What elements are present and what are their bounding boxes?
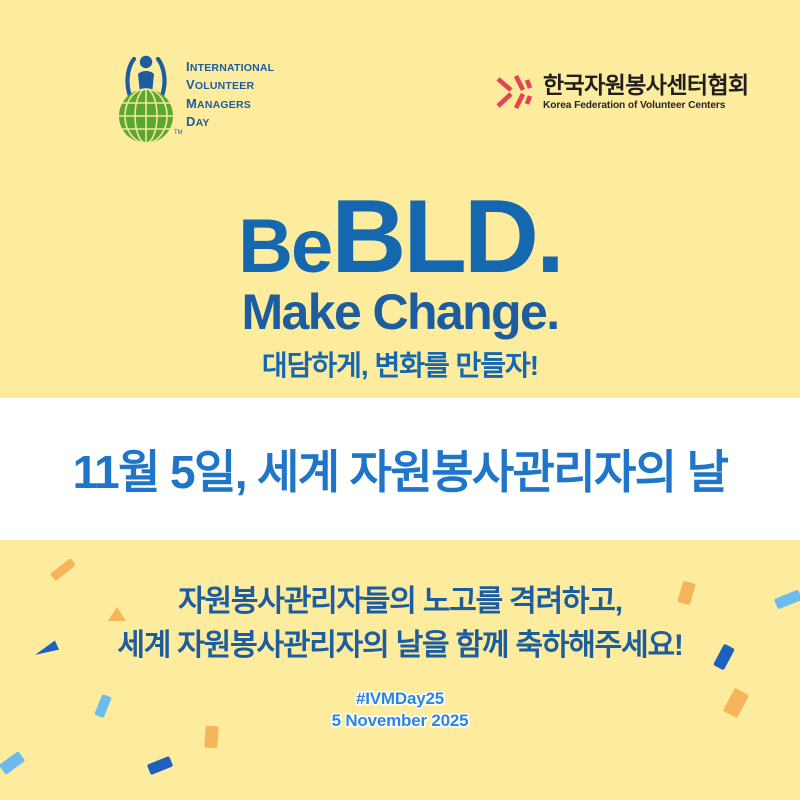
korean-tagline: 대담하게, 변화를 만들자! <box>0 344 800 384</box>
bottom-message-line-2: 세계 자원봉사관리자의 날을 함께 축하해주세요! <box>0 624 800 668</box>
headline-subhead: Make Change. <box>0 283 800 341</box>
bottom-message-line-1: 자원봉사관리자들의 노고를 격려하고, <box>0 580 800 624</box>
hashtag-text: #IVMDay25 <box>0 688 800 710</box>
ivmd-logo-text: INTERNATIONAL VOLUNTEER MANAGERS DAY <box>186 58 274 132</box>
kfvc-korean-name: 한국자원봉사센터협회 <box>543 73 749 97</box>
headline-bold-post: LD. <box>403 179 562 295</box>
date-banner: 11월 5일, 세계 자원봉사관리자의 날 <box>0 398 800 540</box>
kfvc-logo: 한국자원봉사센터협회 Korea Federation of Volunteer… <box>494 70 749 114</box>
date-banner-text: 11월 5일, 세계 자원봉사관리자의 날 <box>73 436 728 502</box>
trademark-mark: TM <box>174 130 183 136</box>
kfvc-symbol-icon <box>494 70 534 114</box>
bottom-section: 자원봉사관리자들의 노고를 격려하고, 세계 자원봉사관리자의 날을 함께 축하… <box>0 540 800 800</box>
ivmd-line-4: DAY <box>186 113 274 132</box>
globe-person-icon <box>112 52 180 148</box>
headline-be: Be <box>238 204 331 289</box>
ivmd-logo: TM INTERNATIONAL VOLUNTEER MANAGERS DAY <box>112 52 274 148</box>
ivmd-line-2: VOLUNTEER <box>186 76 274 95</box>
ivmd-line-3: MANAGERS <box>186 95 274 114</box>
ivmd-line-1: INTERNATIONAL <box>186 58 274 77</box>
poster-canvas: TM INTERNATIONAL VOLUNTEER MANAGERS DAY <box>0 0 800 800</box>
headline-bold-pre: B <box>331 179 403 295</box>
hashtag-block: #IVMDay25 5 November 2025 <box>0 688 800 733</box>
event-date-text: 5 November 2025 <box>0 710 800 732</box>
kfvc-english-name: Korea Federation of Volunteer Centers <box>543 100 749 111</box>
logo-row: TM INTERNATIONAL VOLUNTEER MANAGERS DAY <box>0 0 800 165</box>
bottom-message: 자원봉사관리자들의 노고를 격려하고, 세계 자원봉사관리자의 날을 함께 축하… <box>0 580 800 667</box>
kfvc-logo-text: 한국자원봉사센터협회 Korea Federation of Volunteer… <box>543 73 749 110</box>
main-headline: BeBLD. <box>0 178 800 297</box>
